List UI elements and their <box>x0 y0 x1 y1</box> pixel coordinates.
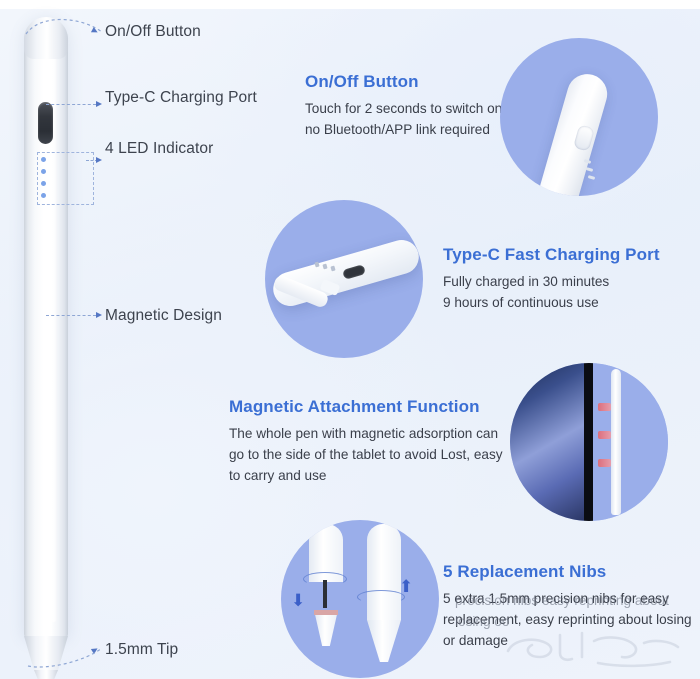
led-indicator-dot <box>586 167 594 172</box>
usb-c-port-icon <box>38 102 53 144</box>
nib-collar-icon <box>314 610 338 615</box>
pen-nib-icon <box>367 620 401 662</box>
feature-body-type-c: Fully charged in 30 minutes 9 hours of c… <box>443 271 693 313</box>
callout-tip: 1.5mm Tip <box>105 641 178 659</box>
feature-body-magnetic: The whole pen with magnetic adsorption c… <box>229 423 504 486</box>
inset-photo-type-c-port <box>265 200 423 358</box>
top-white-strip <box>0 0 700 9</box>
inset-photo-replacement-nibs: ⬇ ⬆ <box>281 520 439 678</box>
feature-title-on-off: On/Off Button <box>305 72 419 92</box>
feature-body-nibs-ghost: precision nibs easy reprinting about los… <box>455 590 700 632</box>
feature-body-line: Fully charged in 30 minutes <box>443 271 693 292</box>
detached-nib-icon <box>314 610 338 646</box>
arrow-head-icon <box>96 312 102 318</box>
inset-backdrop <box>593 363 668 521</box>
magnet-indicator-icon <box>598 403 611 411</box>
tablet-icon <box>510 363 584 521</box>
led-indicator-dot <box>41 169 46 174</box>
leader-line-type-c <box>46 104 96 105</box>
inset-photo-magnetic-attachment <box>510 363 668 521</box>
up-arrow-icon: ⬆ <box>399 578 413 595</box>
magnet-indicator-icon <box>598 431 611 439</box>
feature-title-type-c: Type-C Fast Charging Port <box>443 245 660 265</box>
feature-title-magnetic: Magnetic Attachment Function <box>229 397 480 417</box>
rotate-arrow-icon <box>357 590 405 604</box>
callout-magnetic-design: Magnetic Design <box>105 307 222 325</box>
arrow-head-icon <box>96 157 102 163</box>
magnet-indicator-icon <box>598 459 611 467</box>
pen-body-icon <box>611 369 621 515</box>
stylus-illustration <box>8 18 118 676</box>
led-indicator-dot <box>41 157 46 162</box>
led-indicator-dot <box>41 181 46 186</box>
tablet-edge-icon <box>584 363 593 521</box>
callout-type-c-port: Type-C Charging Port <box>105 89 257 107</box>
curved-leader-tip <box>26 640 106 672</box>
down-arrow-icon: ⬇ <box>291 592 305 609</box>
leader-line-magnetic <box>46 315 96 316</box>
feature-title-nibs: 5 Replacement Nibs <box>443 562 606 582</box>
led-indicator-dot <box>41 193 46 198</box>
callout-on-off-button: On/Off Button <box>105 23 201 41</box>
feature-body-line: 9 hours of continuous use <box>443 292 693 313</box>
curved-leader-on-off <box>22 12 106 46</box>
pen-body-icon <box>367 524 401 620</box>
inset-photo-on-off-button <box>500 38 658 196</box>
pen-top-icon <box>532 69 612 196</box>
callout-led-indicator: 4 LED Indicator <box>105 140 213 158</box>
arrow-head-icon <box>96 101 102 107</box>
led-indicator-dot <box>588 175 596 180</box>
product-infographic: On/Off Button Type-C Charging Port 4 LED… <box>0 0 700 679</box>
rotate-arrow-icon <box>303 572 347 586</box>
